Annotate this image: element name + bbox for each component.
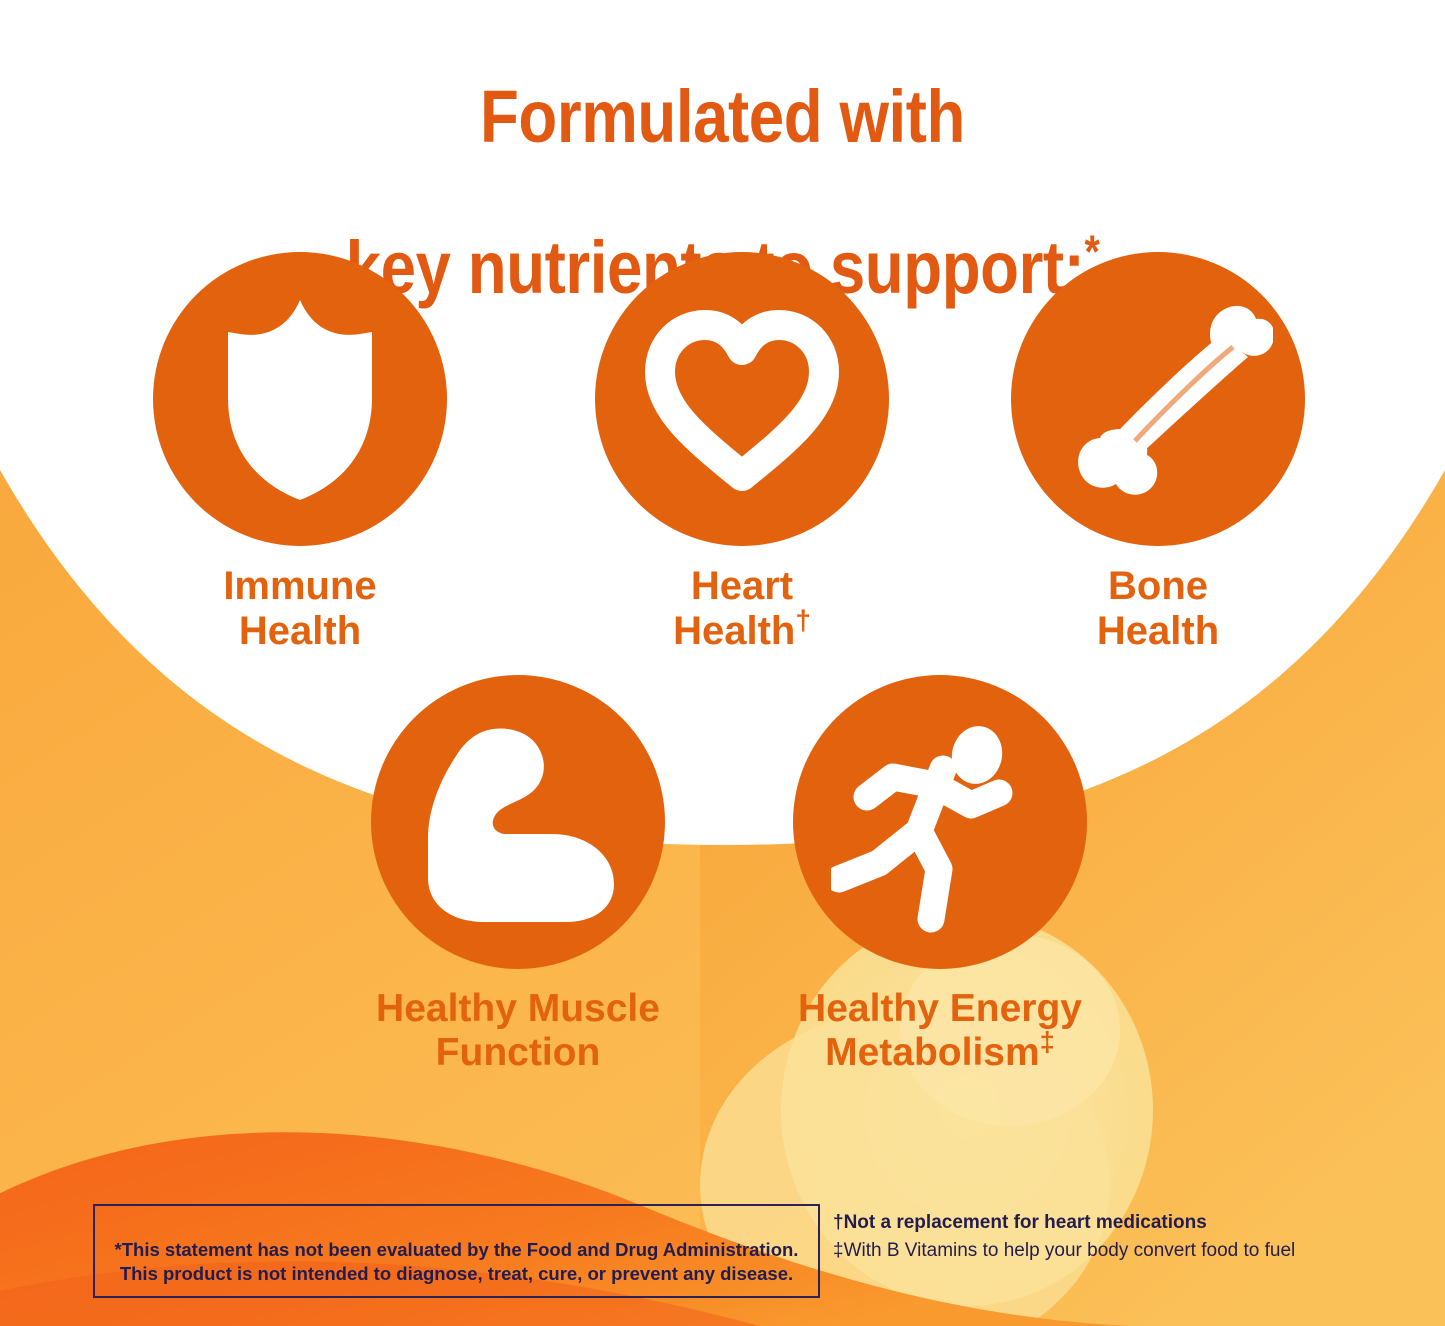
benefit-label-text-heart: Heart Health bbox=[673, 564, 795, 653]
benefit-label-muscle: Healthy Muscle Function bbox=[338, 987, 698, 1075]
heart-outline-icon bbox=[638, 304, 846, 494]
running-person-icon bbox=[831, 711, 1049, 933]
headline-line-1: Formulated with bbox=[480, 75, 965, 158]
poster-canvas: Formulated with key nutrients to support… bbox=[0, 0, 1445, 1326]
benefit-icon-circle-heart bbox=[595, 252, 889, 546]
benefit-tile-bone[interactable]: Bone Health bbox=[1008, 252, 1308, 654]
bone-icon bbox=[1043, 299, 1273, 499]
benefit-label-text-immune: Immune Health bbox=[223, 564, 376, 653]
benefit-label-text-bone: Bone Health bbox=[1097, 564, 1219, 653]
benefit-label-energy: Healthy Energy Metabolism‡ bbox=[760, 987, 1120, 1075]
benefit-label-text-muscle: Healthy Muscle Function bbox=[376, 987, 660, 1074]
benefit-tile-heart[interactable]: Heart Health† bbox=[592, 252, 892, 654]
benefit-icon-circle-energy bbox=[793, 675, 1087, 969]
benefit-icon-circle-bone bbox=[1011, 252, 1305, 546]
footnote-double-dagger: ‡With B Vitamins to help your body conve… bbox=[833, 1237, 1393, 1265]
footnote-group-right: †Not a replacement for heart medications… bbox=[833, 1209, 1393, 1265]
benefit-label-heart: Heart Health† bbox=[592, 564, 892, 654]
benefit-superscript-energy: ‡ bbox=[1040, 1026, 1055, 1057]
benefit-tile-energy[interactable]: Healthy Energy Metabolism‡ bbox=[790, 675, 1090, 1075]
benefit-label-immune: Immune Health bbox=[150, 564, 450, 654]
fda-disclaimer-box: *This statement has not been evaluated b… bbox=[93, 1204, 820, 1298]
benefit-icon-circle-muscle bbox=[371, 675, 665, 969]
benefit-tile-muscle[interactable]: Healthy Muscle Function bbox=[368, 675, 668, 1075]
benefit-tile-immune[interactable]: Immune Health bbox=[150, 252, 450, 654]
fda-disclaimer-text: *This statement has not been evaluated b… bbox=[115, 1239, 799, 1285]
benefit-superscript-heart: † bbox=[795, 605, 811, 636]
flexed-bicep-icon bbox=[412, 718, 624, 926]
benefit-label-bone: Bone Health bbox=[1008, 564, 1308, 654]
shield-icon bbox=[200, 294, 400, 504]
benefit-icon-circle-immune bbox=[153, 252, 447, 546]
footnote-dagger: †Not a replacement for heart medications bbox=[833, 1209, 1393, 1237]
